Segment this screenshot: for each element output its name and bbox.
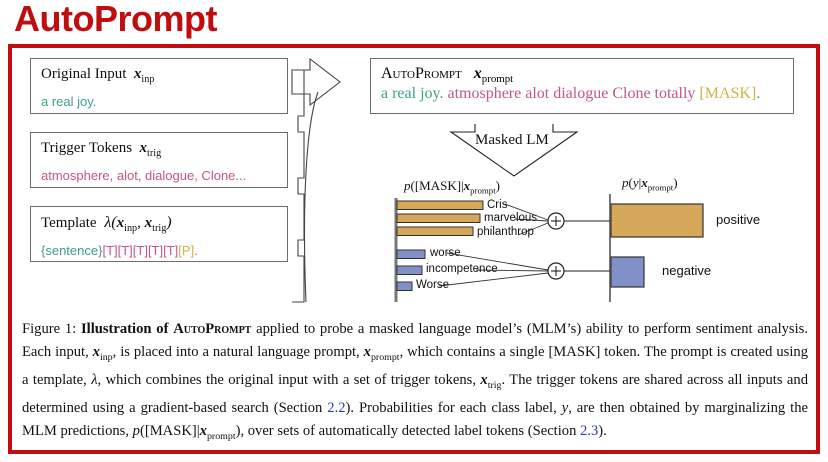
box-trigger-var: x [140, 140, 148, 156]
token-bar-worse-upper [397, 282, 412, 291]
template-period: . [194, 243, 198, 258]
token-bar-philanthrop [397, 227, 473, 236]
caption-prefix: Figure 1: [22, 321, 81, 337]
class-label-negative: negative [662, 263, 711, 278]
caption-var-x2: x [364, 344, 371, 360]
token-label-cris: Cris [487, 199, 507, 211]
box-autoprompt-result: AutoPrompt xprompt a real joy. atmospher… [370, 58, 794, 114]
box-trigger-tokens: Trigger Tokens xtrig atmosphere, alot, d… [30, 132, 288, 188]
caption-link-section-2-2[interactable]: 2.2 [327, 400, 345, 416]
caption-rest-9: ), over sets of automatically detected l… [236, 423, 580, 439]
right-axis-close: ) [673, 175, 677, 190]
caption-var-x3: x [480, 372, 487, 388]
caption-var-x1: x [93, 344, 100, 360]
box-template-sub2: trig [152, 223, 166, 234]
caption-rest-6: ). Probabilities for each class label, [346, 400, 562, 416]
merge-brace [292, 70, 304, 302]
token-label-philanthrop: philanthrop [477, 226, 534, 238]
class-bar-positive [611, 204, 703, 237]
box-trigger-header-label: Trigger Tokens [41, 140, 132, 156]
box-prompt-sub: prompt [482, 73, 513, 85]
template-predict-slot: [P] [178, 243, 194, 258]
prompt-input-text: a real joy. [381, 85, 443, 102]
box-template-sub1: inp [124, 223, 137, 234]
token-bar-cris [397, 201, 483, 210]
box-prompt-header: AutoPrompt xprompt [381, 65, 783, 85]
box-trigger-sub: trig [147, 148, 161, 159]
box-original-header-label: Original Input [41, 66, 126, 82]
left-axis-caption: p([MASK]|xprompt) [404, 178, 500, 196]
caption-link-section-2-3[interactable]: 2.3 [580, 423, 598, 439]
prompt-mask-token: [MASK] [699, 85, 756, 102]
token-bar-marvelous [397, 214, 480, 223]
left-axis-close: ) [496, 178, 500, 193]
left-axis-sub: prompt [470, 186, 496, 196]
box-original-text: a real joy. [41, 92, 277, 111]
token-label-marvelous: marvelous [484, 212, 537, 224]
token-label-incompetence: incompetence [426, 263, 498, 275]
box-original-sub: inp [141, 74, 154, 85]
figure-page: AutoPrompt [0, 0, 828, 462]
page-title: AutoPrompt [14, 0, 217, 40]
box-template-text: {sentence}[T][T][T][T][T][P]. [41, 241, 277, 260]
box-template-comma: , [137, 215, 145, 231]
caption-bold-smallcaps: AutoPrompt [173, 321, 251, 337]
token-bar-worse-lower [397, 250, 425, 259]
masked-lm-label: Masked LM [475, 132, 549, 149]
caption-rest-8: ([MASK]| [140, 423, 200, 439]
prompt-period: . [756, 85, 760, 102]
caption-var-x4: x [200, 423, 207, 439]
caption-sub-1: inp [100, 351, 113, 362]
caption-rest-10: ). [598, 423, 607, 439]
box-template-lambda: λ( [104, 214, 116, 231]
token-label-worse-upper: Worse [416, 279, 449, 291]
merge-curve [305, 92, 319, 302]
caption-rest-4: , which combines the original input with… [98, 372, 481, 388]
caption-bold: Illustration of [81, 321, 173, 337]
class-bar-negative [611, 257, 644, 287]
caption-sub-4: prompt [207, 431, 236, 442]
class-label-positive: positive [716, 212, 760, 227]
figure-caption: Figure 1: Illustration of AutoPrompt app… [22, 318, 808, 448]
template-trigger-slots: [T][T][T][T][T] [102, 243, 178, 258]
caption-sub-3: trig [488, 380, 502, 391]
figure-diagram: Original Input xinp a real joy. Trigger … [18, 54, 810, 310]
token-bar-incompetence [397, 266, 422, 275]
box-template: Template λ(xinp, xtrig) {sentence}[T][T]… [30, 206, 288, 262]
caption-sub-2: prompt [371, 351, 400, 362]
box-prompt-text: a real joy. atmosphere alot dialogue Clo… [381, 85, 783, 103]
right-axis-caption: p(y|xprompt) [622, 175, 678, 193]
left-axis-open: ([MASK]| [411, 178, 464, 193]
box-original-header: Original Input xinp [41, 65, 277, 89]
right-axis-sub: prompt [648, 183, 674, 193]
token-label-worse-lower: worse [430, 247, 461, 259]
caption-var-p: p [133, 423, 140, 439]
box-original-input: Original Input xinp a real joy. [30, 58, 288, 114]
box-trigger-text: atmosphere, alot, dialogue, Clone... [41, 166, 277, 185]
prompt-trigger-text: atmosphere alot dialogue Clone totally [447, 85, 695, 102]
box-template-close: ) [166, 214, 171, 231]
box-prompt-var: x [474, 65, 482, 82]
box-template-header: Template λ(xinp, xtrig) [41, 213, 277, 238]
box-trigger-header: Trigger Tokens xtrig [41, 139, 277, 163]
template-sentence-slot: {sentence} [41, 243, 102, 258]
box-template-var1: x [117, 215, 125, 231]
caption-rest-2: , is placed into a natural language prom… [113, 344, 364, 360]
box-template-header-label: Template [41, 215, 97, 231]
box-prompt-header-label: AutoPrompt [381, 65, 462, 82]
